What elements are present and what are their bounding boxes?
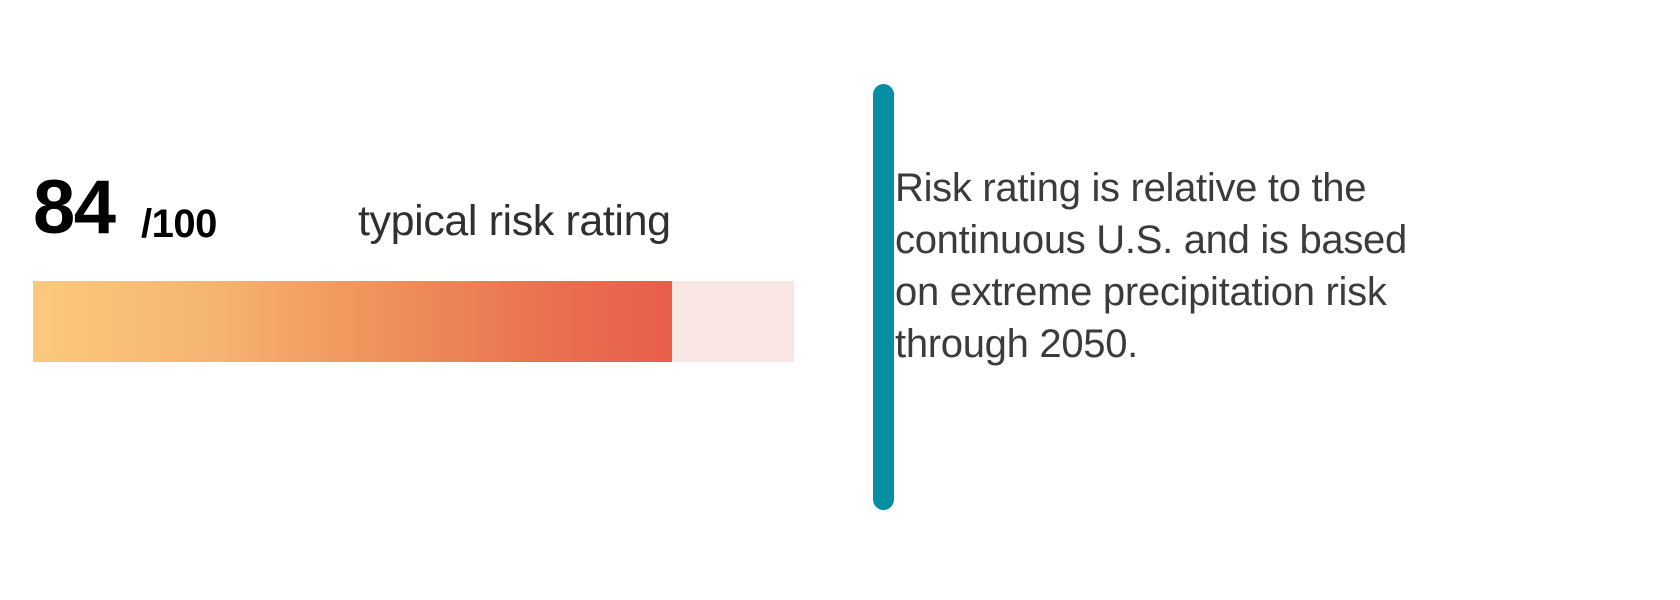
risk-rating-bar-track bbox=[33, 281, 794, 362]
risk-rating-card: 84 /100 typical risk rating Risk rating … bbox=[0, 0, 1680, 600]
risk-note-line: continuous U.S. and is based bbox=[895, 214, 1495, 266]
score-panel: 84 /100 typical risk rating bbox=[33, 160, 803, 246]
vertical-divider bbox=[873, 84, 894, 510]
risk-score-value: 84 bbox=[33, 170, 115, 246]
score-headline: 84 /100 typical risk rating bbox=[33, 160, 803, 246]
risk-score-caption: typical risk rating bbox=[358, 200, 671, 243]
risk-note-line: through 2050. bbox=[895, 318, 1495, 370]
risk-note-panel: Risk rating is relative to the continuou… bbox=[895, 162, 1495, 370]
risk-rating-bar-fill bbox=[33, 281, 672, 362]
risk-note-line: Risk rating is relative to the bbox=[895, 162, 1495, 214]
risk-note-line: on extreme precipitation risk bbox=[895, 266, 1495, 318]
risk-score-denominator: /100 bbox=[141, 204, 217, 244]
